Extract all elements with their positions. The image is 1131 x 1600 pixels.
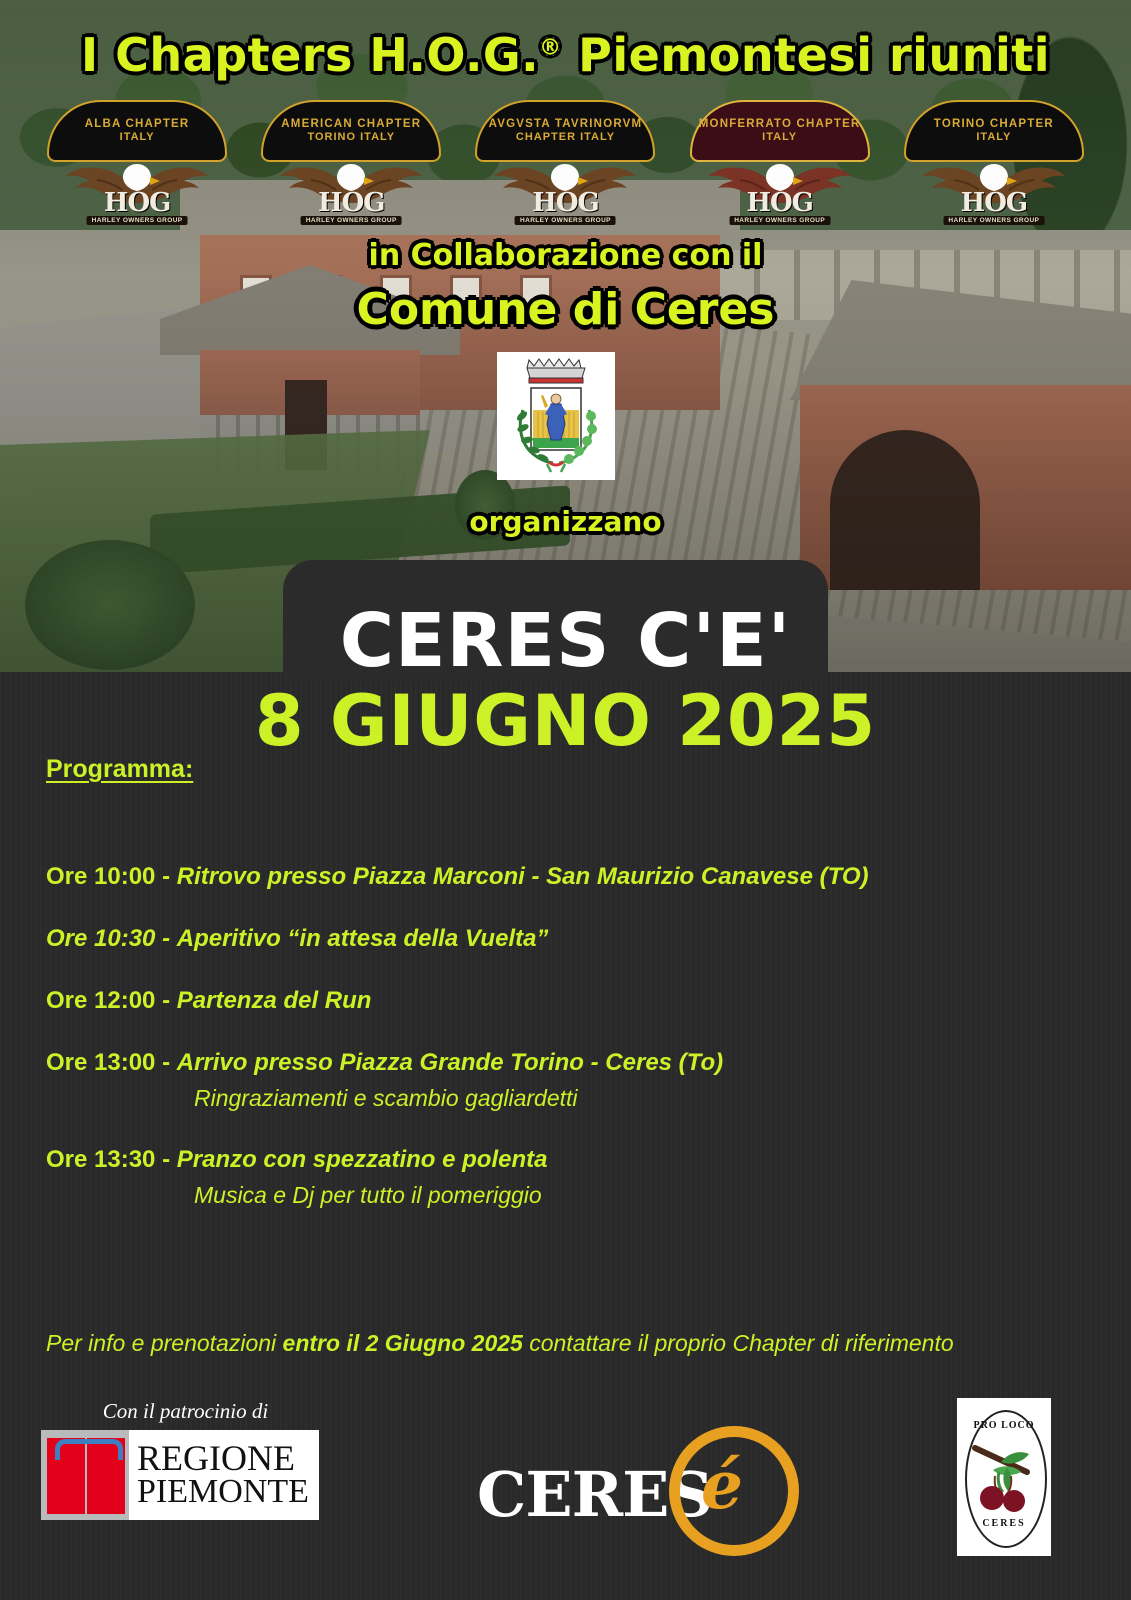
hog-subtitle: HARLEY OWNERS GROUP: [515, 216, 616, 225]
chapter-name-line2: CHAPTER ITALY: [516, 131, 615, 144]
chapter-name-line1: MONFERRATO CHAPTER: [699, 118, 861, 131]
flag-blue-flourish: [55, 1439, 123, 1460]
programme-subnote: Musica e Dj per tutto il pomeriggio: [194, 1181, 1086, 1210]
programme-heading: Programma:: [46, 755, 193, 784]
headline-pre: I Chapters H.O.G.: [81, 28, 539, 82]
info-deadline: entro il 2 Giugno 2025: [283, 1330, 523, 1356]
programme-line: Ore 10:30 - Aperitivo “in attesa della V…: [46, 924, 1086, 954]
programme-line: Ore 10:00 - Ritrovo presso Piazza Marcon…: [46, 862, 1086, 892]
programme-item: Ore 13:30 - Pranzo con spezzatino e pole…: [46, 1145, 1086, 1210]
proloco-ceres-logo: PRO LOCO CERES: [957, 1398, 1051, 1556]
hog-wordmark: HOG: [746, 188, 812, 218]
flag-quadrant: [47, 1476, 85, 1514]
cherries-icon: [971, 1438, 1037, 1512]
patronage-label: Con il patrocinio di: [78, 1399, 293, 1424]
event-date: 8 GIUGNO 2025: [0, 680, 1131, 762]
programme-item: Ore 13:00 - Arrivo presso Piazza Grande …: [46, 1048, 1086, 1113]
hog-wordmark: HOG: [532, 188, 598, 218]
coat-of-arms-icon: [497, 352, 615, 480]
programme-line: Ore 13:00 - Arrivo presso Piazza Grande …: [46, 1048, 1086, 1078]
event-poster: I Chapters H.O.G.® Piemontesi riuniti AL…: [0, 0, 1131, 1600]
partner-name: Comune di Ceres: [0, 284, 1131, 335]
chapter-patch-monferrato: MONFERRATO CHAPTER ITALY HOG HARLEY OWNE…: [690, 100, 870, 235]
collaboration-label: in Collaborazione con il: [0, 238, 1131, 273]
chapter-name-line2: ITALY: [976, 131, 1011, 144]
chapter-patch-avgvsta-tavrinorvm: AVGVSTA TAVRINORVM CHAPTER ITALY HOG HAR…: [475, 100, 655, 235]
hog-subtitle: HARLEY OWNERS GROUP: [87, 216, 188, 225]
piemonte-flag-icon: [41, 1430, 129, 1520]
chapter-name-line2: TORINO ITALY: [307, 131, 395, 144]
programme-list: Ore 10:00 - Ritrovo presso Piazza Marcon…: [46, 862, 1086, 1242]
chapter-name-line2: ITALY: [120, 131, 155, 144]
chapter-name-line2: ITALY: [762, 131, 797, 144]
chapter-name-line1: AMERICAN CHAPTER: [281, 118, 421, 131]
organize-label: organizzano: [0, 505, 1131, 538]
programme-time: Ore 10:30 -: [46, 925, 170, 952]
chapter-patch-alba: ALBA CHAPTER ITALY HOG HARLEY OWNERS GRO…: [47, 100, 227, 235]
chapter-patch-row: ALBA CHAPTER ITALY HOG HARLEY OWNERS GRO…: [0, 100, 1131, 240]
ceres-accent-letter: é: [701, 1446, 743, 1524]
programme-time: Ore 13:00 -: [46, 1049, 170, 1076]
comune-coat-of-arms: [497, 352, 615, 480]
hog-subtitle: HARLEY OWNERS GROUP: [729, 216, 830, 225]
hog-wordmark: HOG: [318, 188, 384, 218]
hog-subtitle: HARLEY OWNERS GROUP: [301, 216, 402, 225]
flag-quadrant: [87, 1476, 125, 1514]
programme-time: Ore 12:00 -: [46, 987, 170, 1014]
proloco-top-text: PRO LOCO: [957, 1420, 1051, 1431]
regione-piemonte-logo: REGIONE PIEMONTE: [41, 1430, 319, 1520]
programme-description: Partenza del Run: [177, 987, 372, 1014]
proloco-bottom-text: CERES: [957, 1518, 1051, 1529]
programme-description: Ritrovo presso Piazza Marconi - San Maur…: [177, 863, 869, 890]
programme-description: Pranzo con spezzatino e polenta: [177, 1146, 548, 1173]
regione-wordmark: REGIONE PIEMONTE: [129, 1430, 319, 1520]
registered-trademark-icon: ®: [539, 36, 562, 61]
programme-time: Ore 10:00 -: [46, 863, 170, 890]
programme-description: Aperitivo “in attesa della Vuelta”: [177, 925, 549, 952]
event-title: CERES C'E': [0, 598, 1131, 684]
info-post: contattare il proprio Chapter di riferim…: [523, 1330, 954, 1356]
programme-line: Ore 12:00 - Partenza del Run: [46, 986, 1086, 1016]
programme-line: Ore 13:30 - Pranzo con spezzatino e pole…: [46, 1145, 1086, 1175]
poster-headline: I Chapters H.O.G.® Piemontesi riuniti: [0, 28, 1131, 82]
programme-item: Ore 10:00 - Ritrovo presso Piazza Marcon…: [46, 862, 1086, 892]
chapter-patch-torino: TORINO CHAPTER ITALY HOG HARLEY OWNERS G…: [904, 100, 1084, 235]
programme-time: Ore 13:30 -: [46, 1146, 170, 1173]
chapter-name-line1: TORINO CHAPTER: [934, 118, 1054, 131]
regione-line2: PIEMONTE: [137, 1476, 309, 1509]
programme-item: Ore 12:00 - Partenza del Run: [46, 986, 1086, 1016]
programme-subnote: Ringraziamenti e scambio gagliardetti: [194, 1084, 1086, 1113]
programme-item: Ore 10:30 - Aperitivo “in attesa della V…: [46, 924, 1086, 954]
chapter-patch-american-torino: AMERICAN CHAPTER TORINO ITALY HOG HARLEY…: [261, 100, 441, 235]
info-pre: Per info e prenotazioni: [46, 1330, 283, 1356]
hog-subtitle: HARLEY OWNERS GROUP: [943, 216, 1044, 225]
ceres-logo: CERES é: [477, 1420, 787, 1535]
chapter-name-line1: AVGVSTA TAVRINORVM: [489, 118, 643, 131]
hog-wordmark: HOG: [104, 188, 170, 218]
programme-description: Arrivo presso Piazza Grande Torino - Cer…: [177, 1049, 723, 1076]
hog-wordmark: HOG: [961, 188, 1027, 218]
headline-post: Piemontesi riuniti: [562, 28, 1050, 82]
reservation-info: Per info e prenotazioni entro il 2 Giugn…: [46, 1330, 1086, 1357]
chapter-name-line1: ALBA CHAPTER: [85, 118, 190, 131]
regione-line1: REGIONE: [137, 1441, 295, 1476]
